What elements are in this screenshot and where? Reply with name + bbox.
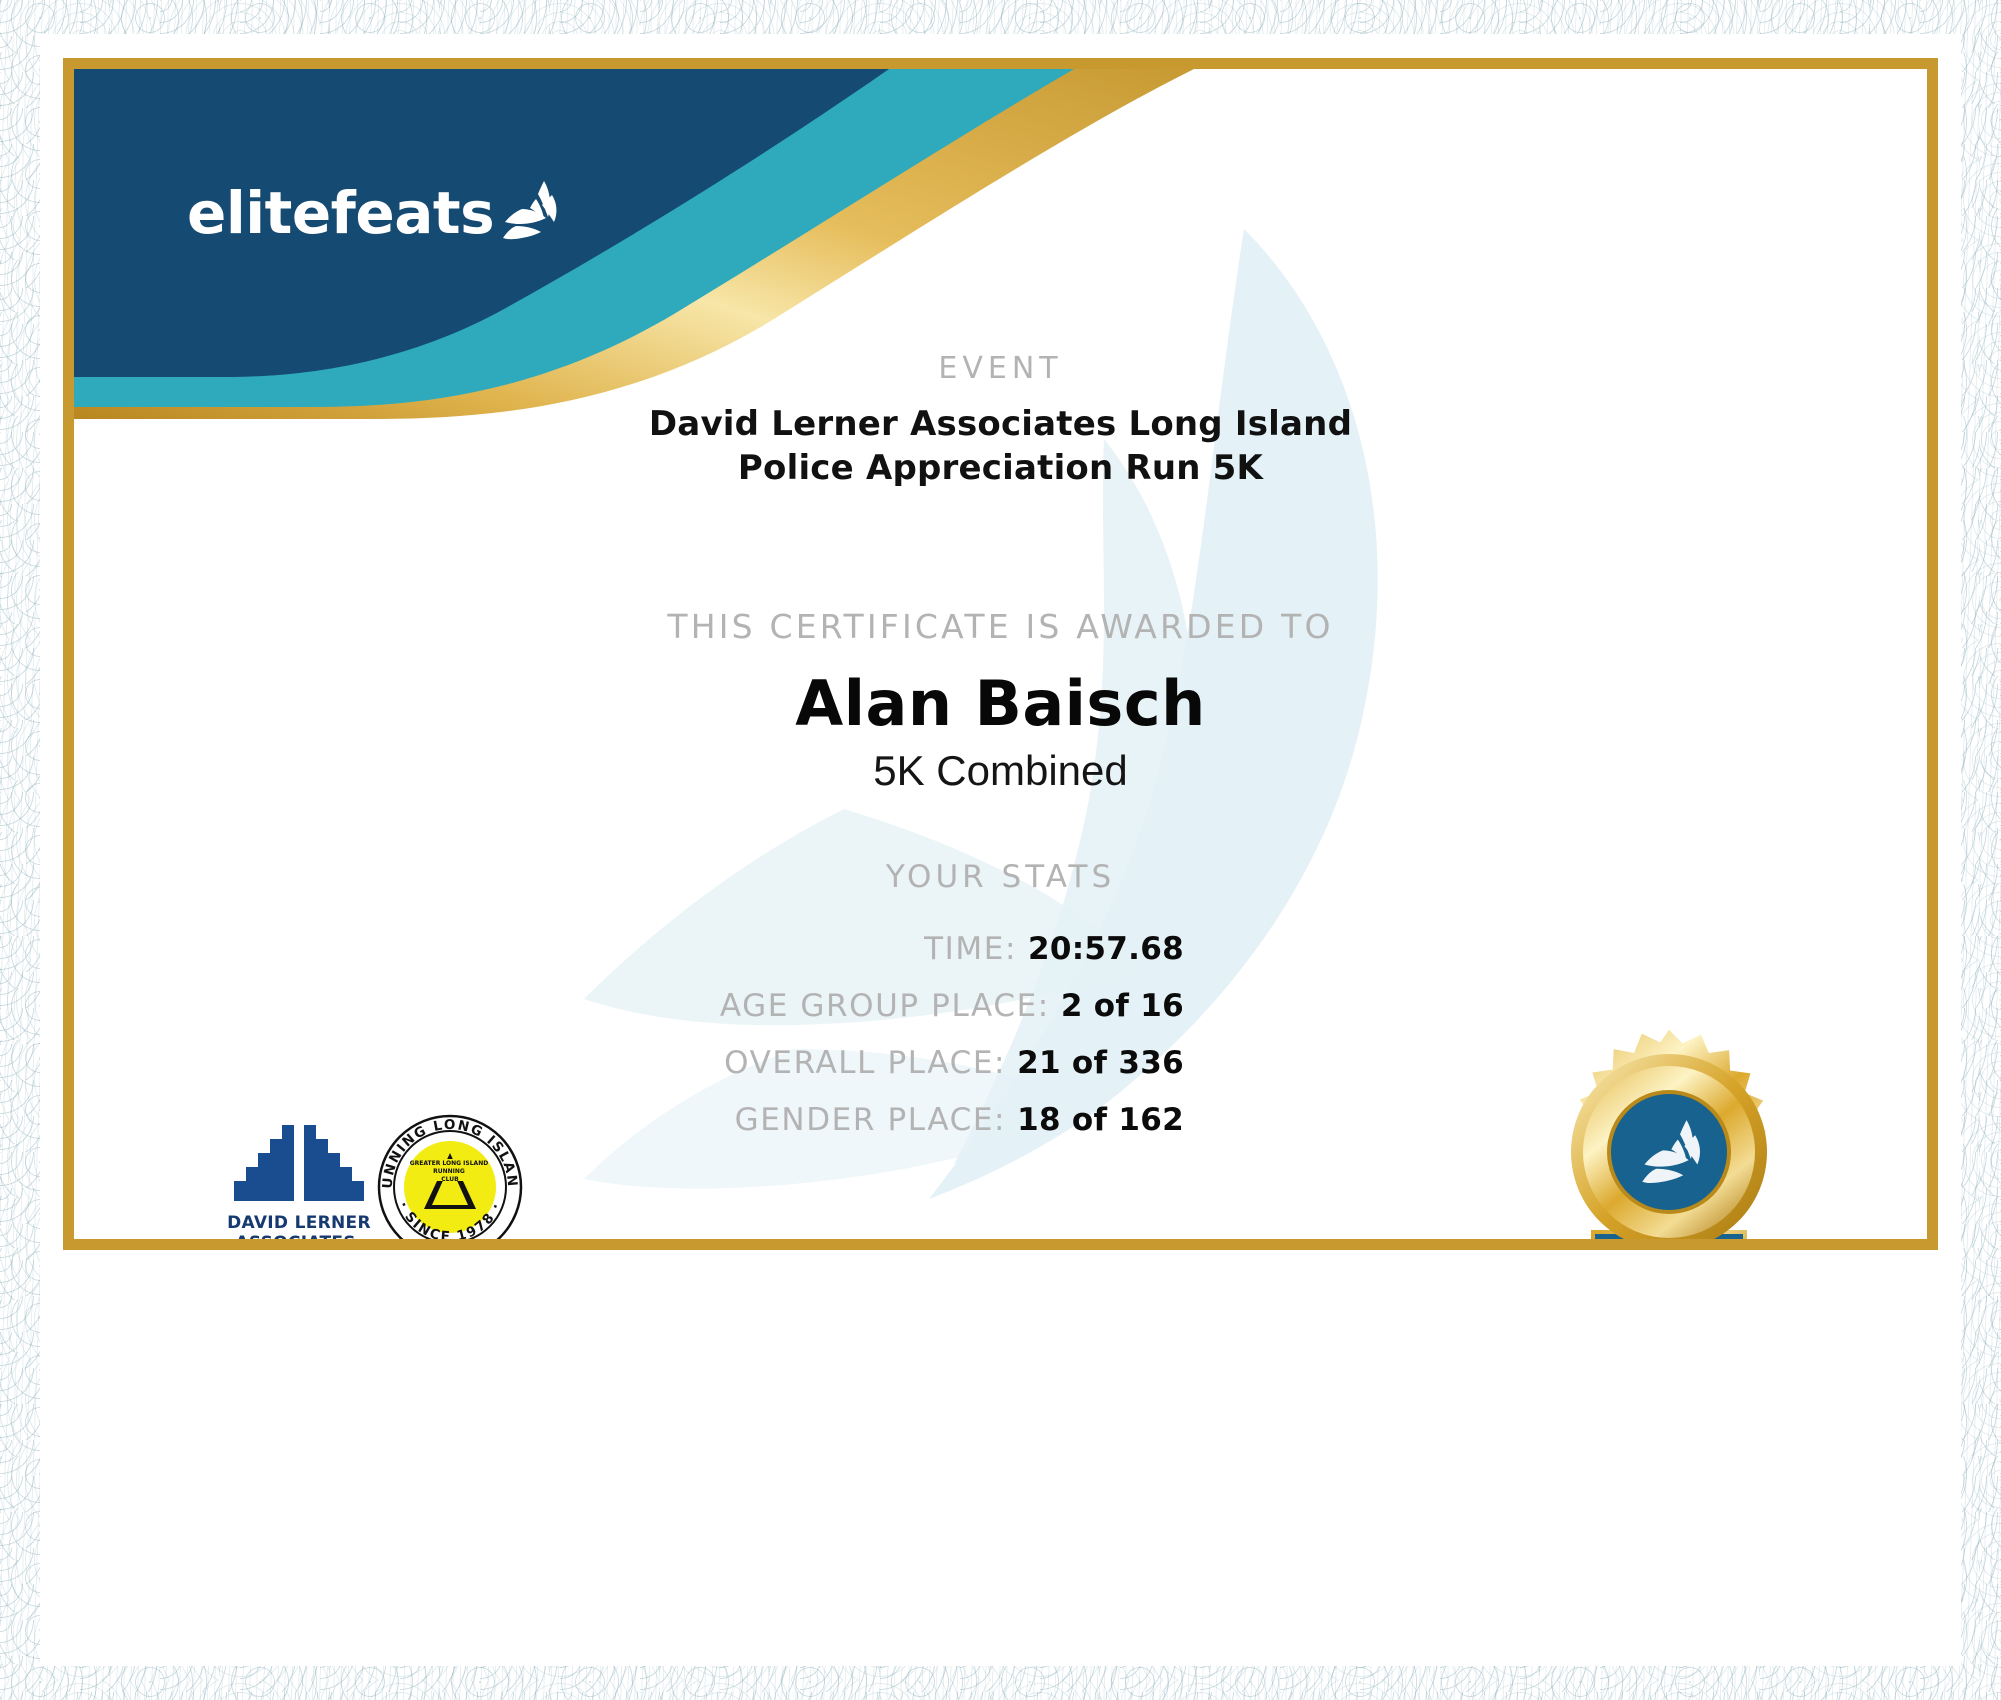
rli-center-line2: RUNNING xyxy=(433,1168,465,1175)
stat-row-overall-place: OVERALL PLACE: 21 of 336 xyxy=(414,1045,1184,1102)
your-stats-label: YOUR STATS xyxy=(74,859,1927,895)
awarded-to-label: THIS CERTIFICATE IS AWARDED TO xyxy=(74,607,1927,646)
event-label: EVENT xyxy=(74,351,1927,386)
stat-row-age-group-place: AGE GROUP PLACE: 2 of 16 xyxy=(414,988,1184,1045)
finisher-medal: 2025 xyxy=(1529,1024,1809,1239)
stat-row-time: TIME: 20:57.68 xyxy=(414,931,1184,988)
stat-key-overall-place: OVERALL PLACE: xyxy=(724,1045,1006,1081)
stepped-pyramid-icon xyxy=(224,1119,374,1205)
event-name-line1: David Lerner Associates Long Island xyxy=(74,402,1927,446)
dla-name: DAVID LERNER ASSOCIATES, INC. xyxy=(224,1213,374,1239)
david-lerner-associates-logo: DAVID LERNER ASSOCIATES, INC. The Sensib… xyxy=(224,1119,374,1239)
stat-key-gender-place: GENDER PLACE: xyxy=(735,1102,1006,1138)
stat-value-time: 20:57.68 xyxy=(1028,931,1184,967)
elitefeats-wordmark: elitefeats xyxy=(187,179,494,247)
elitefeats-logo: elitefeats xyxy=(187,179,562,247)
recipient-name: Alan Baisch xyxy=(74,667,1927,740)
division-name: 5K Combined xyxy=(74,747,1927,795)
certificate-body: elitefeats EVENT David Lerner Associates… xyxy=(74,69,1927,1239)
dla-name-line2: ASSOCIATES, INC. xyxy=(224,1233,374,1239)
sponsor-logos: DAVID LERNER ASSOCIATES, INC. The Sensib… xyxy=(224,1099,574,1239)
stat-value-overall-place: 21 of 336 xyxy=(1017,1045,1184,1081)
rli-center-line1: GREATER LONG ISLAND xyxy=(410,1160,489,1167)
dla-name-line1: DAVID LERNER xyxy=(224,1213,374,1233)
event-name: David Lerner Associates Long Island Poli… xyxy=(74,402,1927,490)
stat-key-time: TIME: xyxy=(924,931,1017,967)
stat-value-gender-place: 18 of 162 xyxy=(1017,1102,1184,1138)
certificate-page: elitefeats EVENT David Lerner Associates… xyxy=(0,0,2001,1700)
event-name-line2: Police Appreciation Run 5K xyxy=(74,446,1927,490)
stat-key-age-group-place: AGE GROUP PLACE: xyxy=(720,988,1050,1024)
rli-center-line3: CLUB xyxy=(441,1176,459,1183)
winged-shoe-icon xyxy=(500,179,562,243)
running-long-island-seal: GREATER LONG ISLAND RUNNING CLUB RUNNING… xyxy=(376,1113,524,1239)
stat-value-age-group-place: 2 of 16 xyxy=(1061,988,1184,1024)
certificate-frame: elitefeats EVENT David Lerner Associates… xyxy=(63,58,1938,1250)
